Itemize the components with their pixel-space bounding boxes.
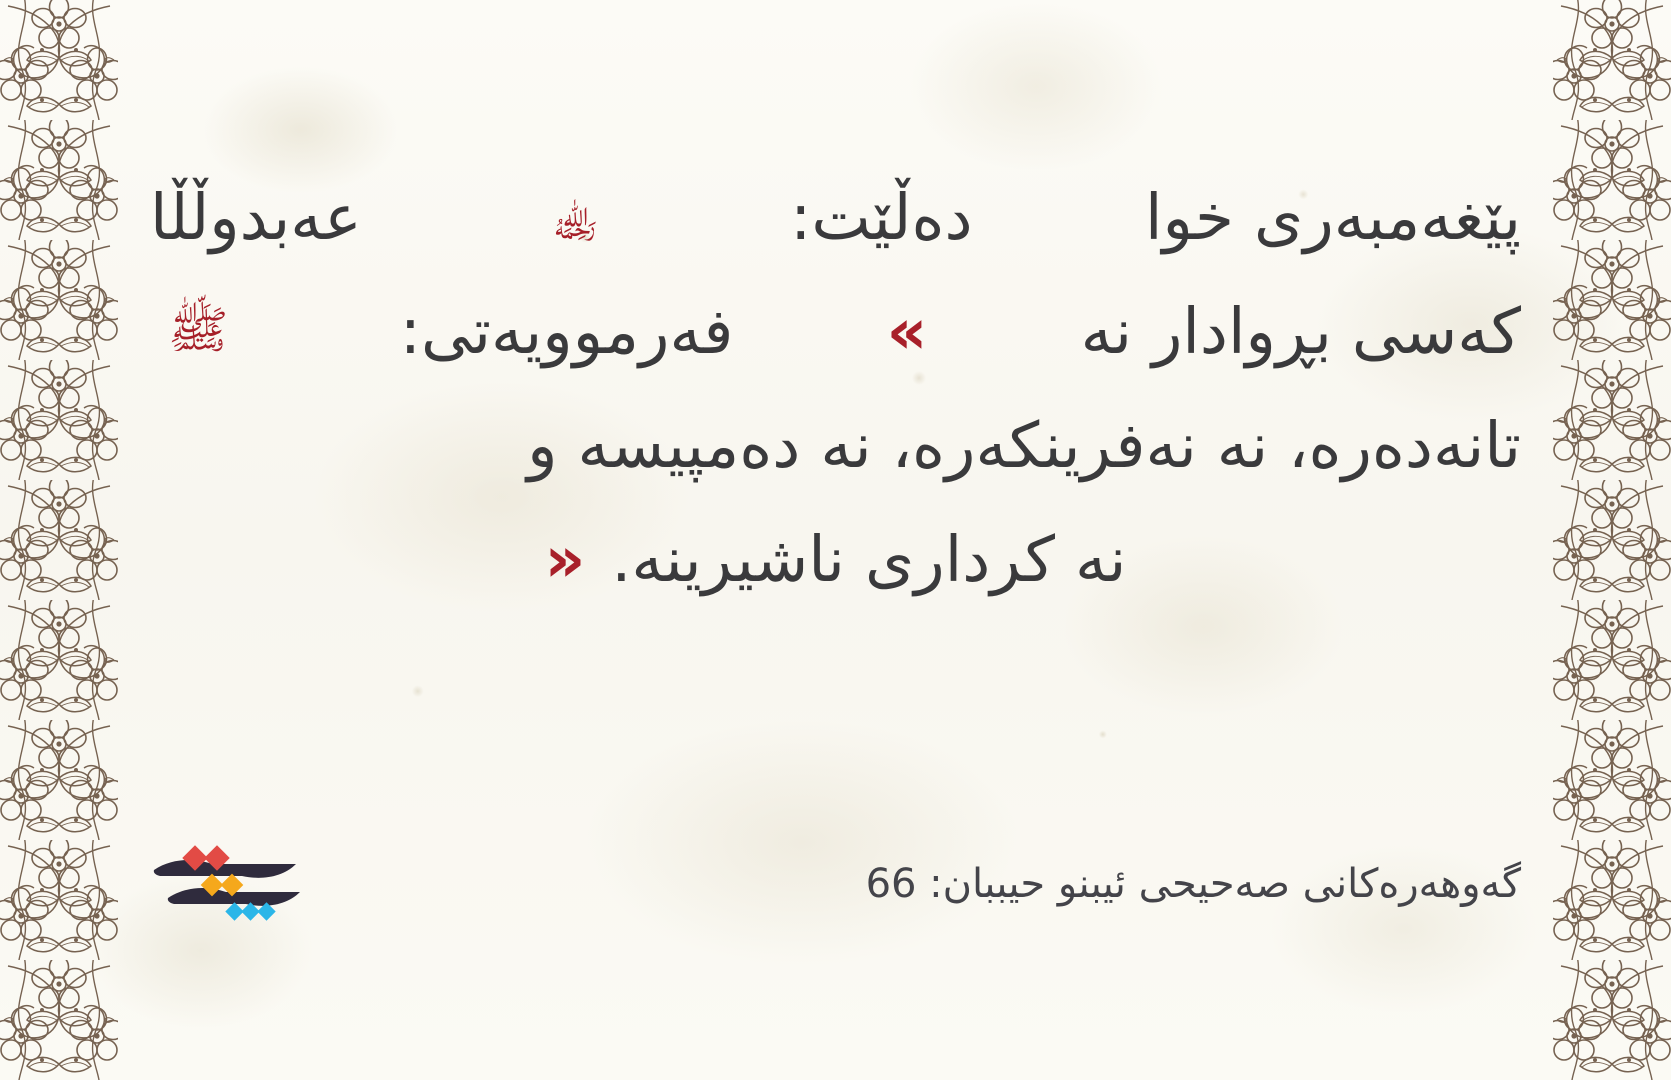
opening-quote-mark: » [887, 286, 928, 378]
hadith-line2-segment-a: فەرموویەتی: [400, 286, 734, 378]
sallallahu-alayhi-wasallam-icon: ﷺ [168, 305, 228, 355]
radiallahu-anhu-icon: ﵀ [552, 190, 600, 242]
card-footer: گەوهەرەکانی صەحیحی ئیبنو حیببان: 66 [150, 836, 1521, 932]
hadith-text-block: پێغەمبەری خوا دەڵێت: ﵀ عەبدوڵڵا کەسی بڕو… [150, 172, 1521, 606]
closing-quote-mark: « [545, 514, 586, 606]
hadith-line3-text: تانەدەرە، نە نەفرینکەرە، نە دەمپیسە و [527, 400, 1521, 492]
hadith-narrator-name: عەبدوڵڵا [150, 172, 362, 264]
brand-logo [150, 836, 300, 932]
hadith-line-2: کەسی بڕوادار نە » فەرموویەتی: ﷺ [150, 286, 1521, 378]
hadith-line1-segment-a: دەڵێت: [790, 172, 972, 264]
hadith-line4-text: نە کرداری ناشیرینە. [611, 514, 1126, 606]
hadith-line-4: نە کرداری ناشیرینە. « [150, 514, 1521, 606]
hadith-card: پێغەمبەری خوا دەڵێت: ﵀ عەبدوڵڵا کەسی بڕو… [0, 0, 1671, 1080]
hadith-line-1: پێغەمبەری خوا دەڵێت: ﵀ عەبدوڵڵا [150, 172, 1521, 264]
card-content: پێغەمبەری خوا دەڵێت: ﵀ عەبدوڵڵا کەسی بڕو… [0, 0, 1671, 1080]
hadith-line-3: تانەدەرە، نە نەفرینکەرە، نە دەمپیسە و [150, 400, 1521, 492]
source-reference: گەوهەرەکانی صەحیحی ئیبنو حیببان: 66 [866, 861, 1521, 907]
hadith-line1-segment-b: پێغەمبەری خوا [1145, 172, 1521, 264]
hadith-line2-segment-b: کەسی بڕوادار نە [1081, 286, 1521, 378]
